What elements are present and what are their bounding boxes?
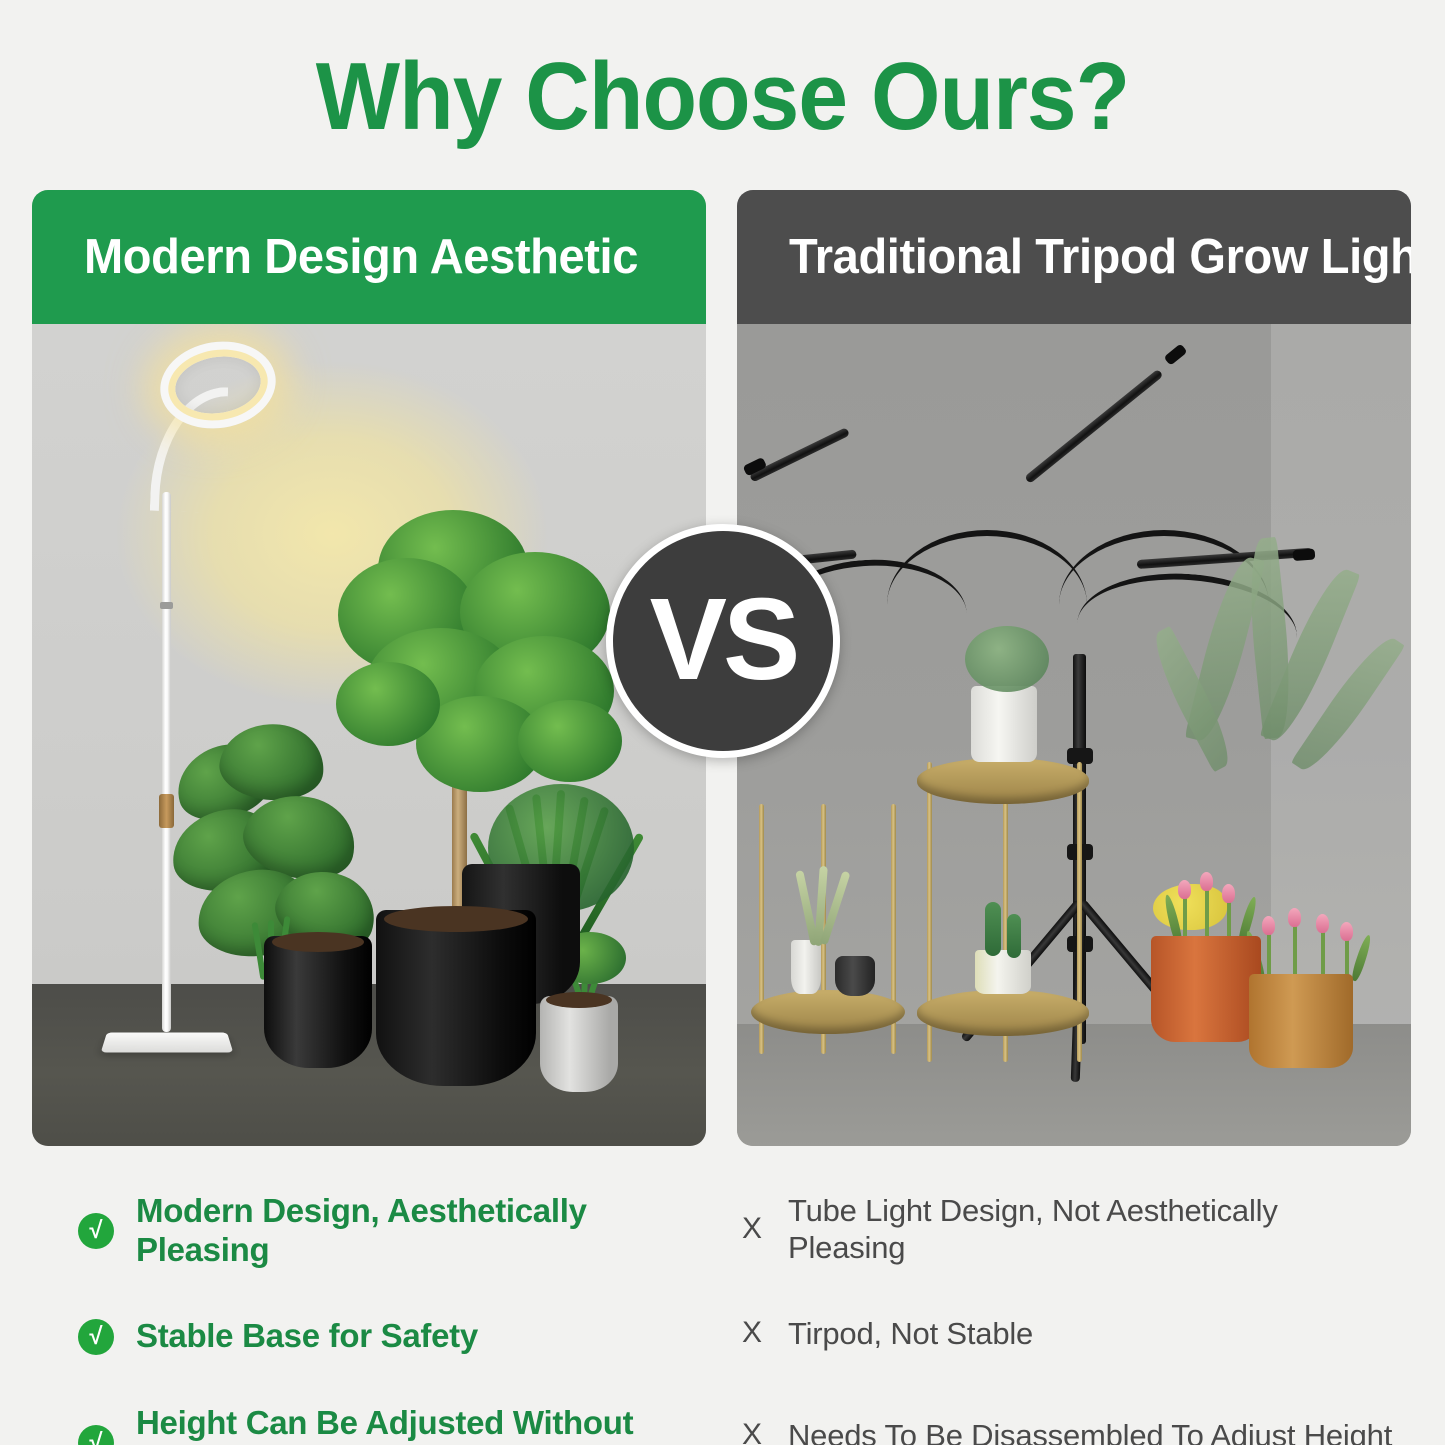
product-photo-modern-lamp: [32, 324, 706, 1146]
soil-ficus: [384, 906, 528, 932]
terracotta-pot-tan: [1249, 974, 1353, 1068]
page-title: Why Choose Ours?: [51, 42, 1395, 152]
panel-traditional-tripod: Traditional Tripod Grow Light: [737, 190, 1411, 1146]
panel-header-right: Traditional Tripod Grow Light: [737, 190, 1411, 324]
check-icon: √: [78, 1425, 114, 1445]
plant-pot-monstera: [264, 936, 372, 1068]
con-item: X Tirpod, Not Stable: [742, 1298, 1402, 1368]
plant-stand-left: [751, 804, 911, 1064]
con-item: X Tube Light Design, Not Aesthetically P…: [742, 1192, 1402, 1266]
check-icon: √: [78, 1213, 114, 1249]
vs-label: VS: [650, 581, 797, 697]
con-item: X Needs To Be Disassembled To Adjust Hei…: [742, 1400, 1402, 1445]
panel-header-left: Modern Design Aesthetic: [32, 190, 706, 324]
soil-small: [546, 992, 612, 1008]
plant-stand-right: [917, 722, 1097, 1064]
product-photo-tripod-lamp: [737, 324, 1411, 1146]
pros-list: √ Modern Design, Aesthetically Pleasing …: [78, 1192, 718, 1445]
panel-header-left-title: Modern Design Aesthetic: [84, 229, 638, 285]
pro-item: √ Height Can Be Adjusted Without Disasse…: [78, 1404, 718, 1445]
cons-list: X Tube Light Design, Not Aesthetically P…: [742, 1192, 1402, 1445]
lamp-flat-base: [101, 1032, 234, 1052]
pro-item-label: Modern Design, Aesthetically Pleasing: [136, 1192, 718, 1270]
x-icon: X: [742, 1212, 770, 1246]
soil-monstera: [272, 932, 364, 952]
comparison-infographic: Why Choose Ours? Modern Design Aesthetic: [0, 0, 1445, 1445]
pro-item-label: Height Can Be Adjusted Without Disassemb…: [136, 1404, 656, 1445]
con-item-label: Tirpod, Not Stable: [788, 1315, 1033, 1352]
panel-modern-design: Modern Design Aesthetic: [32, 190, 706, 1146]
plant-pot-small-gray: [540, 996, 618, 1092]
x-icon: X: [742, 1418, 770, 1445]
plant-pot-ficus: [376, 910, 536, 1086]
check-icon: √: [78, 1319, 114, 1355]
terracotta-pot-orange: [1151, 936, 1261, 1042]
vs-badge: VS: [606, 524, 840, 758]
panel-header-right-title: Traditional Tripod Grow Light: [789, 229, 1411, 285]
lamp-joint: [160, 602, 173, 609]
pro-item: √ Stable Base for Safety: [78, 1302, 718, 1372]
con-item-label: Tube Light Design, Not Aesthetically Ple…: [788, 1192, 1402, 1266]
lamp-pole: [162, 492, 171, 1032]
x-icon: X: [742, 1316, 770, 1350]
tube-cap-mid-right: [1293, 548, 1316, 561]
pro-item-label: Stable Base for Safety: [136, 1317, 478, 1356]
con-item-label: Needs To Be Disassembled To Adjust Heigh…: [788, 1417, 1392, 1445]
pro-item: √ Modern Design, Aesthetically Pleasing: [78, 1192, 718, 1270]
